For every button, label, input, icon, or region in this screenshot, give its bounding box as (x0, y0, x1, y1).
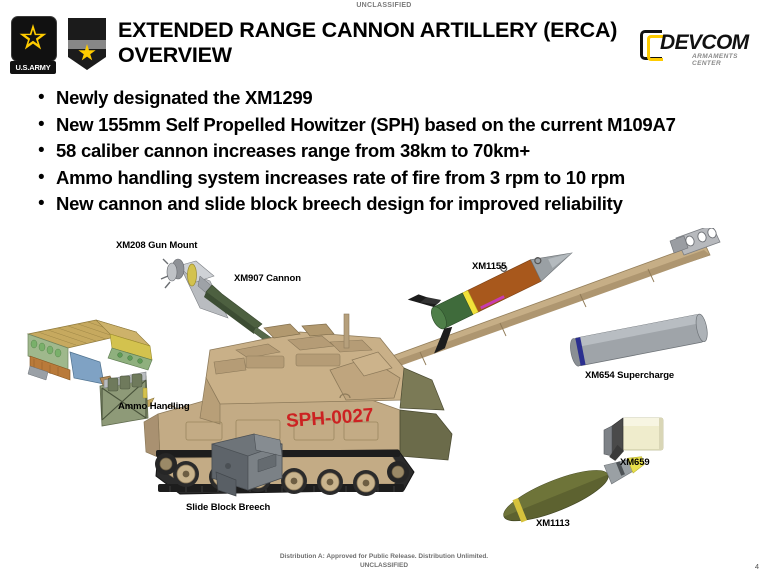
devcom-subtitle-armaments: ARMAMENTS (692, 53, 738, 60)
devcom-logo: DEVCOM ARMAMENTS CENTER (640, 26, 758, 70)
list-item: • 58 caliber cannon increases range from… (30, 139, 730, 164)
label-xm1155: XM1155 (472, 261, 506, 272)
diagram-svg (0, 228, 768, 538)
howitzer-barrel (352, 228, 720, 381)
bullet-list: • Newly designated the XM1299 • New 155m… (30, 86, 730, 219)
bullet-text: New 155mm Self Propelled Howitzer (SPH) … (56, 113, 676, 138)
xm659-part (604, 418, 663, 456)
track-assembly (155, 450, 414, 496)
list-item: • New cannon and slide block breech desi… (30, 192, 730, 217)
army-wordmark: U.S.ARMY (10, 61, 56, 74)
slide-footer: Distribution A: Approved for Public Rele… (0, 552, 768, 570)
erca-system-diagram: SPH-0027 XM208 Gun Mount XM907 Cannon Am… (0, 228, 768, 538)
bullet-text: New cannon and slide block breech design… (56, 192, 623, 217)
xm1155-projectile (408, 228, 585, 354)
slide-header: U.S.ARMY EXTENDED RANGE CANNON ARTILLERY… (0, 12, 768, 80)
xm654-supercharge-part (568, 313, 709, 367)
classification-banner-bottom: UNCLASSIFIED (0, 561, 768, 570)
distribution-statement: Distribution A: Approved for Public Rele… (0, 552, 768, 561)
bullet-text: Ammo handling system increases rate of f… (56, 166, 625, 191)
bullet-marker: • (30, 166, 56, 190)
rear-ammo-cage (100, 372, 148, 426)
list-item: • Newly designated the XM1299 (30, 86, 730, 111)
devcom-wordmark: DEVCOM (660, 31, 749, 55)
list-item: • Ammo handling system increases rate of… (30, 166, 730, 191)
xm1113-projectile (495, 438, 649, 530)
bullet-marker: • (30, 139, 56, 163)
label-ammo-handling: Ammo Handling (118, 401, 190, 412)
list-item: • New 155mm Self Propelled Howitzer (SPH… (30, 113, 730, 138)
page-number: 4 (755, 562, 759, 571)
page-title: EXTENDED RANGE CANNON ARTILLERY (ERCA) O… (118, 18, 618, 68)
us-army-star-icon: U.S.ARMY (8, 16, 60, 78)
label-xm654-supercharge: XM654 Supercharge (585, 370, 674, 381)
devcom-subtitle-center: CENTER (692, 60, 721, 67)
label-xm208-gun-mount: XM208 Gun Mount (116, 240, 197, 251)
classification-banner-top: UNCLASSIFIED (0, 2, 768, 9)
label-slide-block-breech: Slide Block Breech (186, 502, 270, 513)
bullet-text: 58 caliber cannon increases range from 3… (56, 139, 530, 164)
label-xm907-cannon: XM907 Cannon (234, 273, 301, 284)
bullet-marker: • (30, 192, 56, 216)
label-xm659: XM659 (620, 457, 650, 468)
bullet-marker: • (30, 86, 56, 110)
armaments-center-shield-icon (68, 18, 106, 70)
label-xm1113: XM1113 (536, 518, 570, 529)
bullet-marker: • (30, 113, 56, 137)
bullet-text: Newly designated the XM1299 (56, 86, 312, 111)
devcom-bracket-icon (640, 30, 662, 60)
slide-canvas: UNCLASSIFIED U.S.ARMY EXTENDED RANGE CAN… (0, 0, 768, 576)
